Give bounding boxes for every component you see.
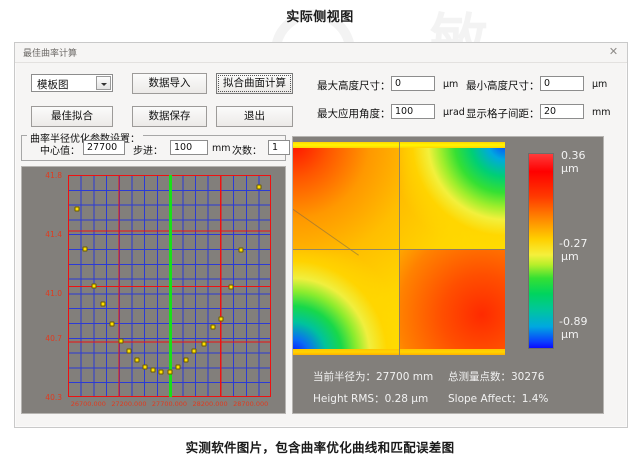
data-point — [100, 301, 105, 306]
heatmap-horizontal-axis — [293, 249, 505, 250]
x-axis-tick-label: 28700.000 — [224, 400, 278, 408]
exit-button[interactable]: 退出 — [216, 106, 293, 127]
match-error-heatmap — [293, 142, 505, 355]
page-title: 实际侧视图 — [0, 6, 640, 25]
colorbar-max-value: 0.36 — [561, 149, 586, 162]
data-point — [219, 316, 224, 321]
y-axis-tick-label: 41.4 — [36, 230, 62, 239]
step-input[interactable]: 100 — [170, 140, 208, 155]
window-titlebar: 最佳曲率计算 ✕ — [15, 43, 627, 63]
grid-spacing-unit: mm — [592, 107, 611, 118]
colorbar-min-value: -0.89 — [559, 315, 587, 328]
data-point — [191, 349, 196, 354]
status-height-rms: Height RMS：0.28 µm — [313, 391, 428, 406]
window-title: 最佳曲率计算 — [23, 46, 77, 59]
grid-spacing-input[interactable]: 20 — [540, 104, 584, 119]
template-select[interactable]: 模板图 — [31, 74, 113, 92]
data-point — [135, 358, 140, 363]
plot-area — [68, 175, 271, 397]
min-height-unit: µm — [592, 79, 607, 90]
colorbar-mid-value: -0.27 — [559, 237, 587, 250]
curvature-optimization-chart: 40.340.741.041.441.8 26700.00027200.0002… — [21, 166, 286, 414]
data-point — [143, 365, 148, 370]
count-input[interactable]: 1 — [268, 140, 290, 155]
colorbar-max-unit: µm — [561, 162, 579, 175]
chevron-down-icon[interactable] — [96, 76, 111, 90]
max-angle-label: 最大应用角度： — [317, 106, 391, 121]
y-axis-tick-label: 40.7 — [36, 334, 62, 343]
step-unit: mm — [212, 143, 231, 154]
data-point — [167, 369, 172, 374]
data-point — [74, 207, 79, 212]
data-point — [256, 184, 261, 189]
close-icon[interactable]: ✕ — [607, 45, 620, 58]
data-point — [83, 247, 88, 252]
data-point — [151, 368, 156, 373]
data-point — [175, 365, 180, 370]
data-point — [126, 349, 131, 354]
status-total-points: 总测量点数：30276 — [448, 369, 544, 384]
data-point — [210, 325, 215, 330]
best-fit-button[interactable]: 最佳拟合 — [31, 106, 113, 127]
colorbar — [528, 153, 554, 349]
min-height-input[interactable]: 0 — [540, 76, 584, 91]
max-height-label: 最大高度尺寸： — [317, 78, 391, 93]
center-value-input[interactable]: 27700 — [83, 140, 125, 155]
heatmap-quadrant-bottom-left — [293, 249, 399, 356]
figure-caption: 实测软件图片，包含曲率优化曲线和匹配误差图 — [0, 437, 640, 456]
data-point — [109, 322, 114, 327]
max-angle-input[interactable]: 100 — [391, 104, 435, 119]
match-error-map-panel: 0.36 µm -0.27 µm -0.89 µm 当前半径为：27700 mm… — [292, 136, 604, 414]
grid-spacing-label: 显示格子间距： — [466, 106, 540, 121]
count-label: 次数： — [232, 142, 262, 157]
heatmap-quadrant-bottom-right — [399, 249, 505, 356]
data-save-button[interactable]: 数据保存 — [132, 106, 207, 127]
status-current-radius: 当前半径为：27700 mm — [313, 369, 433, 384]
min-height-label: 最小高度尺寸： — [466, 78, 540, 93]
step-label: 步进： — [133, 142, 163, 157]
data-point — [201, 341, 206, 346]
max-angle-unit: µrad — [443, 107, 465, 118]
max-height-unit: µm — [443, 79, 458, 90]
template-select-value: 模板图 — [37, 77, 69, 92]
heatmap-quadrant-top-right — [399, 142, 505, 249]
data-point — [159, 369, 164, 374]
data-point — [238, 248, 243, 253]
data-point — [118, 338, 123, 343]
status-slope-affect: Slope Affect：1.4% — [448, 391, 548, 406]
colorbar-min-unit: µm — [561, 328, 579, 341]
fit-surface-calc-button[interactable]: 拟合曲面计算 — [216, 73, 293, 94]
center-radius-marker — [169, 175, 172, 397]
y-axis-tick-label: 41.0 — [36, 289, 62, 298]
data-import-button[interactable]: 数据导入 — [132, 73, 207, 94]
data-point — [91, 284, 96, 289]
max-height-input[interactable]: 0 — [391, 76, 435, 91]
data-point — [229, 285, 234, 290]
y-axis-tick-label: 41.8 — [36, 171, 62, 180]
center-value-label: 中心值： — [40, 142, 80, 157]
data-point — [183, 358, 188, 363]
y-axis-tick-label: 40.3 — [36, 393, 62, 402]
colorbar-mid-unit: µm — [561, 250, 579, 263]
